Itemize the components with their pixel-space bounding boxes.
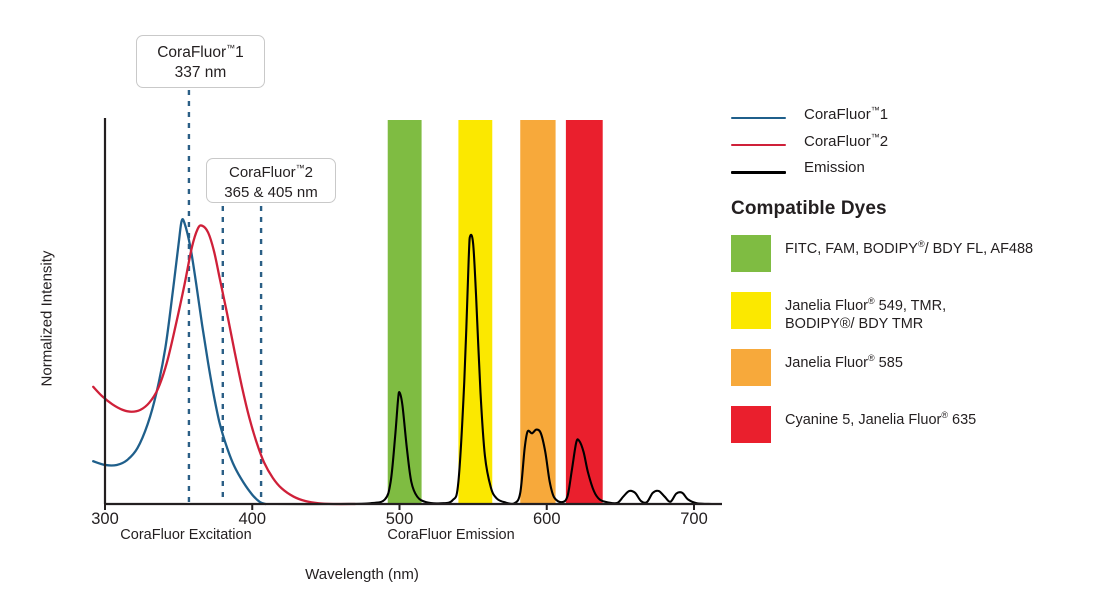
callout-1-value: 337 nm [137, 63, 264, 83]
legend-line-swatch-1 [731, 144, 786, 146]
dye-label-2: Janelia Fluor® 585 [785, 353, 903, 372]
legend-series-row-2: Emission [731, 159, 1101, 186]
legend-line-swatch-2 [731, 171, 786, 174]
x-axis-title: Wavelength (nm) [0, 566, 724, 583]
callout-2-value: 365 & 405 nm [207, 183, 335, 203]
compatible-dyes-title: Compatible Dyes [731, 198, 887, 220]
legend-series-row-0: CoraFluor™1 [731, 105, 1101, 132]
dye-color-swatch-0 [731, 235, 771, 272]
curve-series-0 [93, 219, 265, 504]
dye-row-0: FITC, FAM, BODIPY®/ BDY FL, AF488 [731, 235, 1106, 272]
yellow-band [458, 120, 492, 504]
callout-2-title: CoraFluor™2 [207, 163, 335, 183]
series-legend: CoraFluor™1CoraFluor™2Emission [731, 105, 1101, 186]
dye-label-0: FITC, FAM, BODIPY®/ BDY FL, AF488 [785, 239, 1033, 258]
green-band [388, 120, 422, 504]
legend-series-row-1: CoraFluor™2 [731, 132, 1101, 159]
section-label-emission: CoraFluor Emission [301, 527, 601, 543]
dye-color-swatch-1 [731, 292, 771, 329]
red-band [566, 120, 603, 504]
legend-series-label-2: Emission [804, 159, 865, 176]
callout-1-title: CoraFluor™1 [137, 43, 264, 63]
section-label-excitation: CoraFluor Excitation [36, 527, 336, 543]
legend-series-label-0: CoraFluor™1 [804, 105, 888, 123]
compatible-dyes-list: FITC, FAM, BODIPY®/ BDY FL, AF488Janelia… [731, 235, 1106, 463]
dye-row-3: Cyanine 5, Janelia Fluor® 635 [731, 406, 1106, 443]
curve-series-1 [93, 225, 355, 504]
chart-figure: CoraFluor™1 337 nm CoraFluor™2 365 & 405… [0, 0, 1110, 612]
dye-row-2: Janelia Fluor® 585 [731, 349, 1106, 386]
dye-label-1: Janelia Fluor® 549, TMR, BODIPY®/ BDY TM… [785, 296, 946, 334]
legend-line-swatch-0 [731, 117, 786, 119]
dye-row-1: Janelia Fluor® 549, TMR, BODIPY®/ BDY TM… [731, 292, 1106, 329]
callout-corafluor-2: CoraFluor™2 365 & 405 nm [206, 158, 336, 203]
dye-label-3: Cyanine 5, Janelia Fluor® 635 [785, 410, 976, 429]
wavelength-bands [388, 120, 603, 504]
legend-series-label-1: CoraFluor™2 [804, 132, 888, 150]
dye-color-swatch-2 [731, 349, 771, 386]
dye-color-swatch-3 [731, 406, 771, 443]
y-axis-title: Normalized Intensity [39, 239, 56, 399]
callout-corafluor-1: CoraFluor™1 337 nm [136, 35, 265, 88]
curve-series-2 [274, 235, 711, 504]
x-tick-label-700: 700 [659, 510, 729, 529]
